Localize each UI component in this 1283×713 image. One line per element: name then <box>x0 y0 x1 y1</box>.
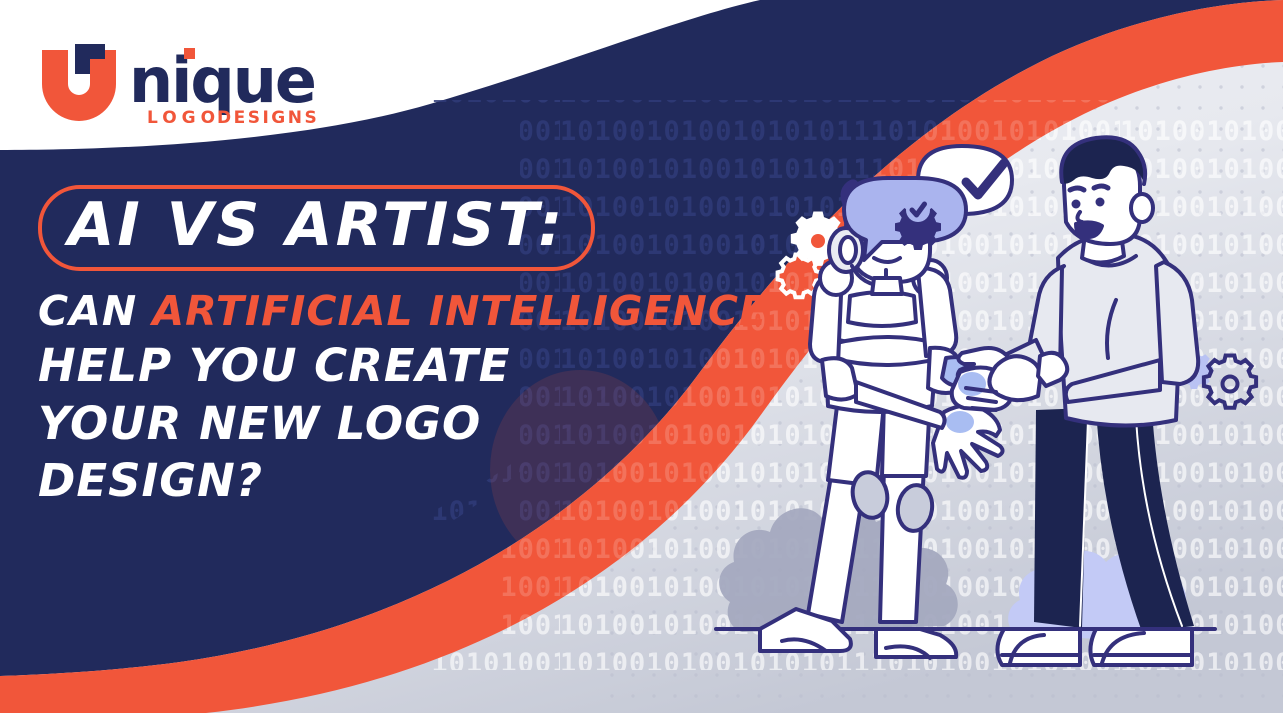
headline-line-2-accent: ARTIFICIAL INTELLIGENCE <box>152 287 768 335</box>
logo-tagline-designs: DESIGNS <box>217 108 319 128</box>
logo-i-dot <box>184 48 195 59</box>
gear-icon-solid-white <box>791 212 845 266</box>
unique-logo-designs-logo[interactable]: nique LOGO DESIGNS <box>34 30 334 130</box>
headline-line-5: DESIGN? <box>38 452 678 510</box>
title-main: AI VS ARTIST: <box>68 190 565 260</box>
gear-icon-solid-periwinkle <box>1175 351 1213 389</box>
title-pill: AI VS ARTIST: <box>38 185 595 271</box>
banner-canvas: 10100101001010101110101001010100101 0101… <box>0 0 1283 713</box>
headline-block: AI VS ARTIST: CAN ARTIFICIAL INTELLIGENC… <box>38 185 678 510</box>
headline-line-4: YOUR NEW LOGO <box>38 395 678 453</box>
logo-wordmark: nique <box>129 44 315 117</box>
headline-line-2: CAN ARTIFICIAL INTELLIGENCE <box>38 285 678 337</box>
headline-line-3: HELP YOU CREATE <box>38 337 678 395</box>
logo-tagline-logo: LOGO <box>147 108 220 128</box>
headline-line-2-plain: CAN <box>38 287 152 335</box>
